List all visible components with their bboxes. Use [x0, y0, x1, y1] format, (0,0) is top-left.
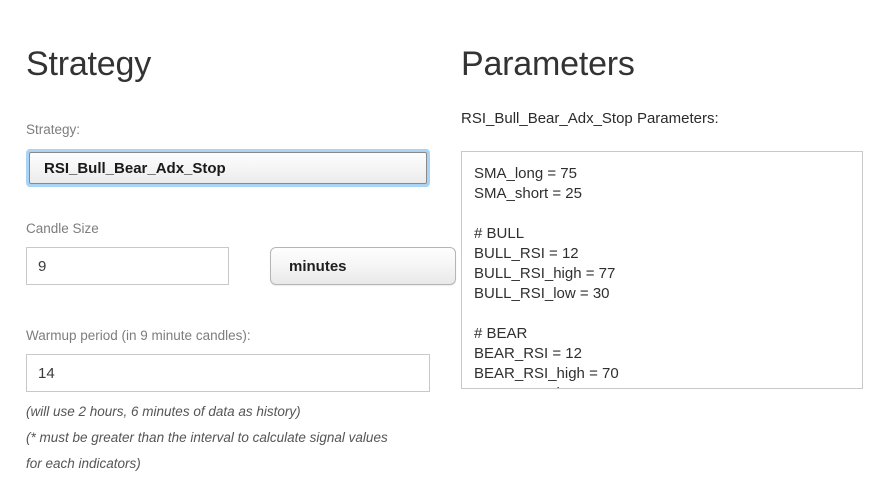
candle-size-label: Candle Size — [26, 220, 99, 238]
page-title-parameters: Parameters — [461, 47, 635, 81]
parameters-label: RSI_Bull_Bear_Adx_Stop Parameters: — [461, 110, 719, 127]
warmup-period-input[interactable] — [26, 354, 430, 392]
strategy-label: Strategy: — [26, 121, 80, 139]
warmup-note-history: (will use 2 hours, 6 minutes of data as … — [26, 404, 426, 420]
strategy-select[interactable]: RSI_Bull_Bear_Adx_Stop — [29, 152, 427, 184]
parameters-textarea[interactable]: SMA_long = 75 SMA_short = 25 # BULL BULL… — [461, 151, 863, 389]
warmup-note-interval-line2: for each indicators) — [26, 456, 426, 472]
settings-page: Strategy Strategy: RSI_Bull_Bear_Adx_Sto… — [0, 0, 882, 500]
warmup-note-interval-line1: (* must be greater than the interval to … — [26, 430, 426, 446]
candle-unit-select[interactable]: minutes — [270, 247, 456, 285]
warmup-period-label: Warmup period (in 9 minute candles): — [26, 327, 251, 345]
candle-size-input[interactable] — [26, 247, 229, 285]
strategy-select-focus-ring: RSI_Bull_Bear_Adx_Stop — [26, 149, 430, 187]
page-title-strategy: Strategy — [26, 47, 151, 81]
